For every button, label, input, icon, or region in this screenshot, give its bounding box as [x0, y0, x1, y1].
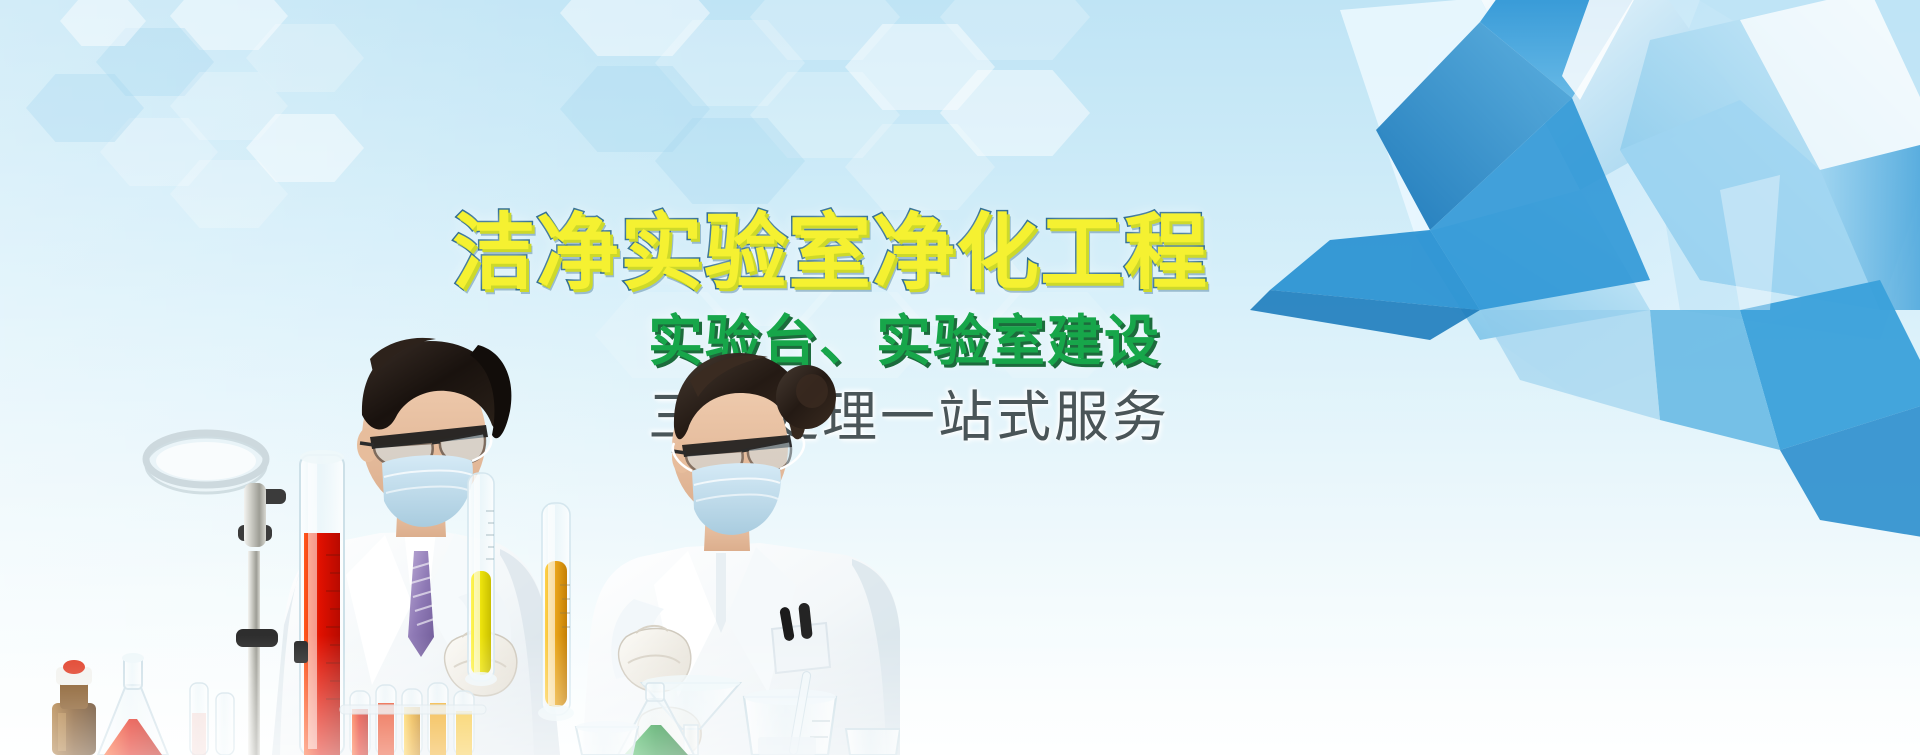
- lab-scientists-photo: [0, 285, 900, 755]
- promo-banner: 洁净实验室净化工程 实验台、实验室建设 三废处理一站式服务: [0, 0, 1920, 755]
- graduated-tube-amber: [538, 503, 574, 721]
- graduated-tube-yellow: [465, 473, 497, 686]
- erlenmeyer-flask-red: [98, 653, 168, 755]
- reagent-bottle-amber: [52, 660, 96, 755]
- beaker-small: [576, 721, 638, 755]
- beaker-small: [846, 729, 900, 755]
- female-scientist: [582, 353, 900, 755]
- burette-red: [294, 450, 344, 755]
- abstract-crystal-polygon-cluster: [1180, 0, 1920, 540]
